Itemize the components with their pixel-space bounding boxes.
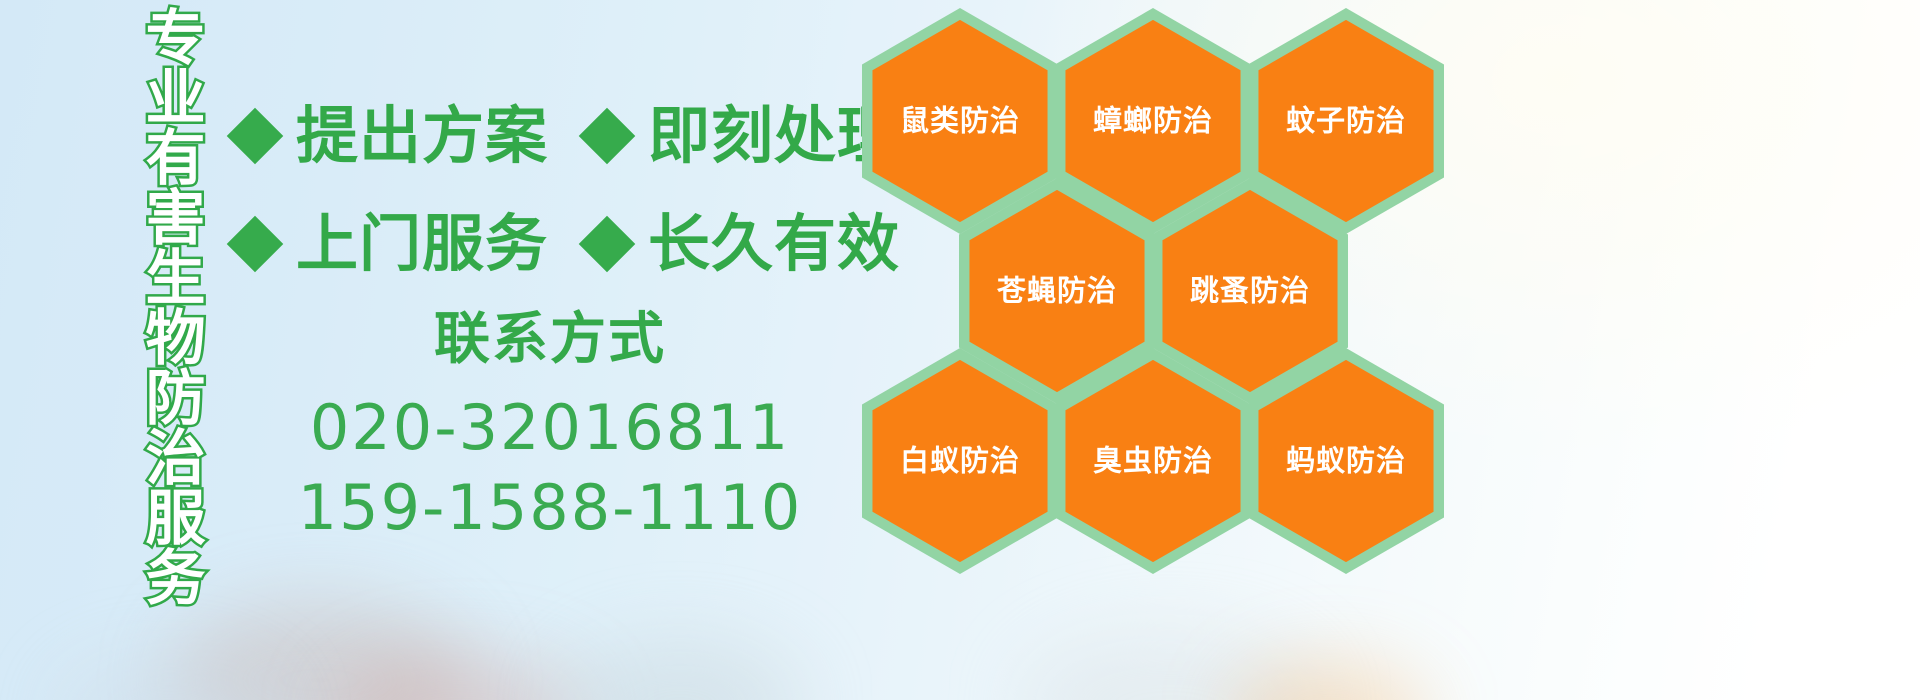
- diamond-icon: [578, 215, 636, 273]
- feature-list: 提出方案 即刻处理 上门服务 长久有效: [226, 82, 866, 298]
- contact-block: 联系方式 020-32016811 159-1588-1110: [240, 310, 860, 547]
- background-blur-blob: [330, 655, 590, 700]
- service-label: 跳蚤防治: [1152, 277, 1348, 306]
- feature-item-immediate-handling: 即刻处理: [578, 105, 900, 167]
- feature-item-long-lasting: 长久有效: [578, 213, 900, 275]
- service-label: 蚊子防治: [1248, 107, 1444, 136]
- service-honeycomb: 鼠类防治 蟑螂防治 蚊子防治 苍蝇防治 跳蚤防治 白蚁防治: [862, 0, 1462, 580]
- feature-row: 上门服务 长久有效: [226, 190, 866, 298]
- background-blur-blob: [1230, 660, 1430, 700]
- service-hex-termite[interactable]: 白蚁防治: [862, 348, 1058, 574]
- feature-label: 提出方案: [296, 105, 548, 167]
- feature-item-onsite-service: 上门服务: [226, 213, 548, 275]
- service-label: 蚂蚁防治: [1248, 447, 1444, 476]
- service-label: 臭虫防治: [1055, 447, 1251, 476]
- phone-mobile[interactable]: 159-1588-1110: [240, 468, 860, 547]
- phone-landline[interactable]: 020-32016811: [240, 388, 860, 467]
- diamond-icon: [226, 215, 284, 273]
- diamond-icon: [578, 107, 636, 165]
- diamond-icon: [226, 107, 284, 165]
- service-label: 鼠类防治: [862, 107, 1058, 136]
- vertical-headline: 专业有害生物防治服务: [104, 6, 200, 606]
- service-hex-bedbug[interactable]: 臭虫防治: [1055, 348, 1251, 574]
- feature-row: 提出方案 即刻处理: [226, 82, 866, 190]
- background-blur-blob: [60, 660, 280, 700]
- pest-control-banner: 专业有害生物防治服务 提出方案 即刻处理 上门服务 长久有效 联系方式: [0, 0, 1920, 700]
- service-label: 蟑螂防治: [1055, 107, 1251, 136]
- service-label: 苍蝇防治: [959, 277, 1155, 306]
- service-label: 白蚁防治: [862, 447, 1058, 476]
- background-blur-blob: [1020, 630, 1320, 700]
- background-blur-blob: [560, 640, 800, 700]
- contact-heading: 联系方式: [240, 310, 860, 370]
- background-blur-blob: [170, 600, 470, 700]
- feature-item-propose-plan: 提出方案: [226, 105, 548, 167]
- service-hex-ant[interactable]: 蚂蚁防治: [1248, 348, 1444, 574]
- feature-label: 上门服务: [296, 213, 548, 275]
